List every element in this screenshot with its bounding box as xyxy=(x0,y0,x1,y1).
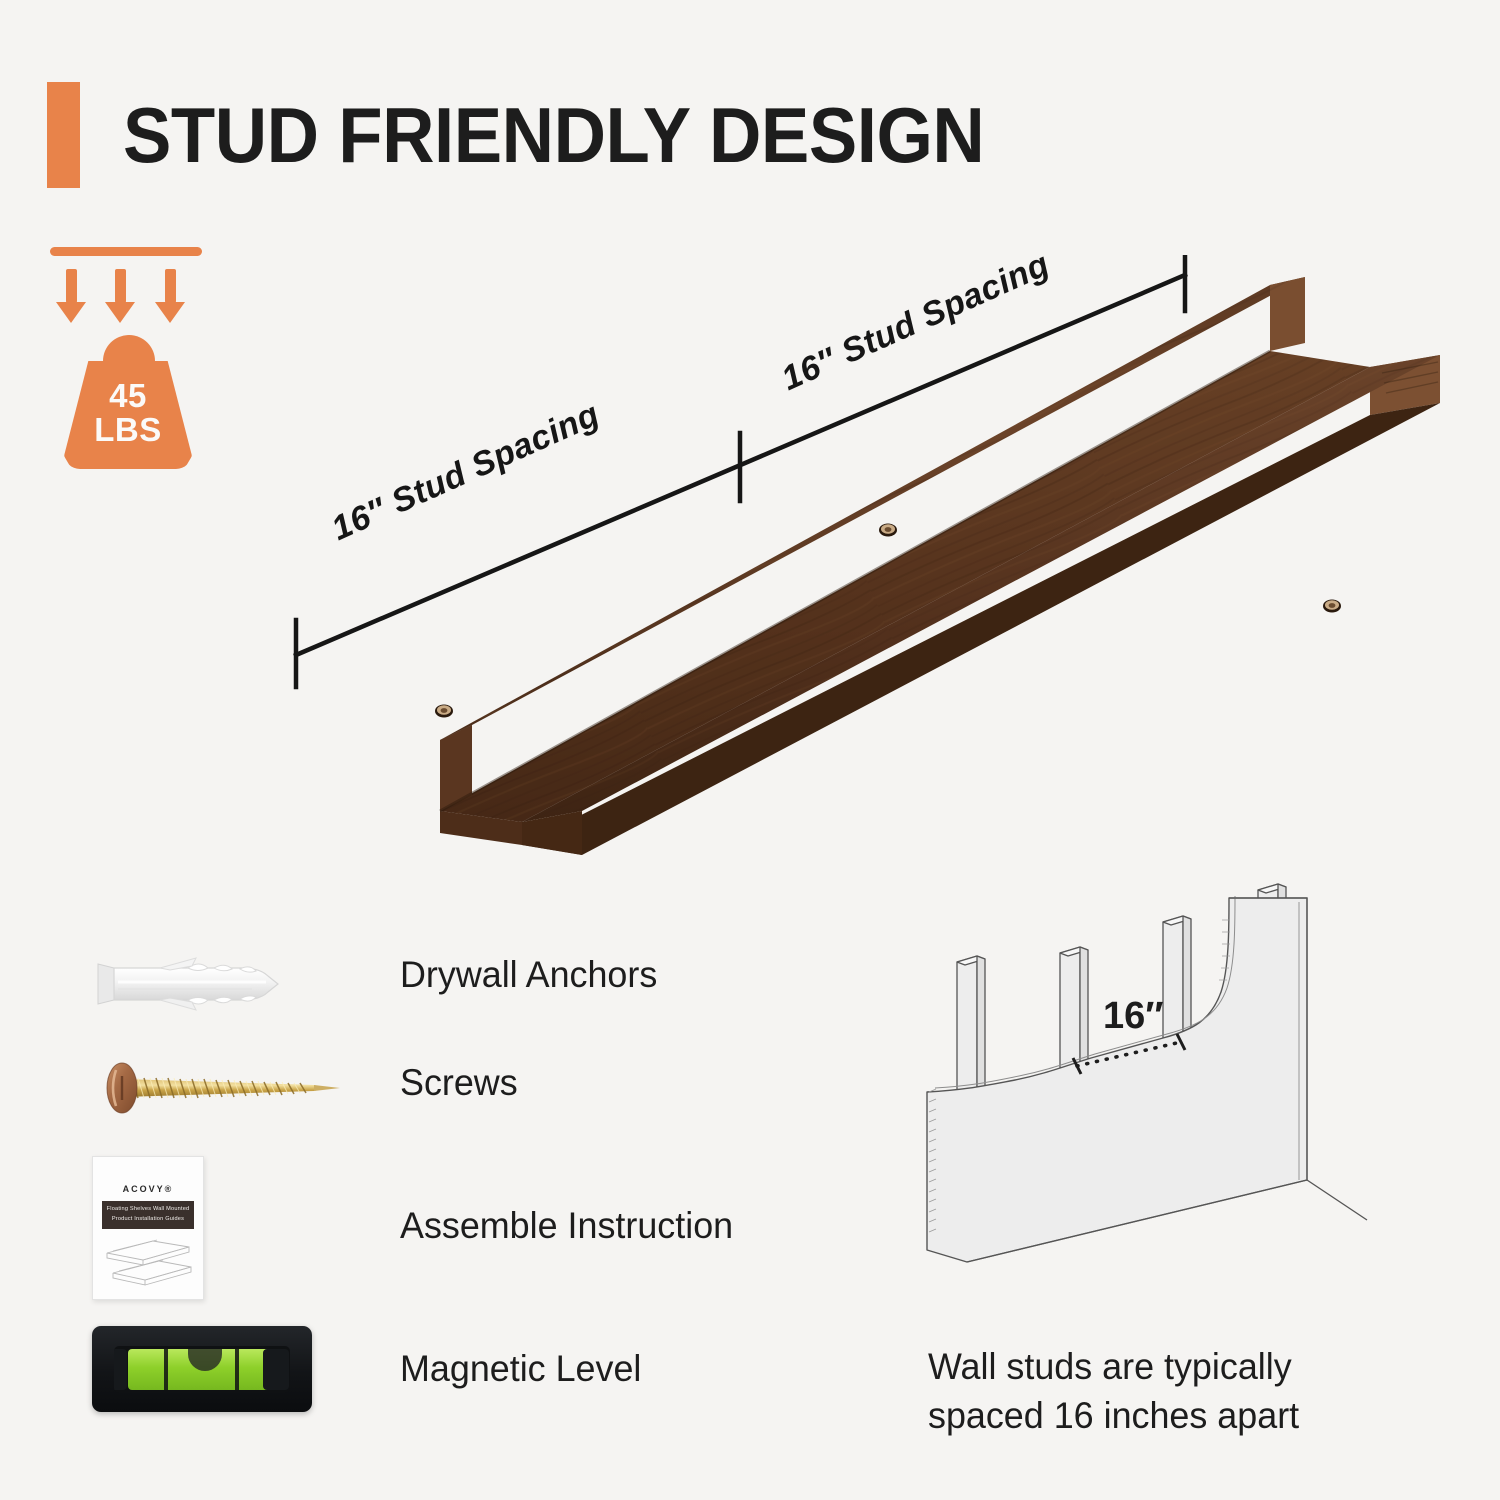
page-title: STUD FRIENDLY DESIGN xyxy=(123,96,984,174)
screw-icon xyxy=(92,1058,344,1118)
booklet-subtitle: Floating Shelves Wall Mounted Product In… xyxy=(102,1201,194,1229)
booklet-subtitle-line2: Product Installation Guides xyxy=(102,1215,194,1225)
stud-caption-line1: Wall studs are typically xyxy=(928,1343,1384,1392)
drywall-anchor-icon xyxy=(92,952,288,1016)
stud-diagram-caption: Wall studs are typically spaced 16 inche… xyxy=(928,1343,1384,1441)
load-arrow-icon xyxy=(105,269,135,323)
accessory-label-assemble-instruction: Assemble Instruction xyxy=(400,1205,733,1247)
instruction-booklet-icon: ACOVY® Floating Shelves Wall Mounted Pro… xyxy=(92,1156,202,1298)
title-accent-bar xyxy=(47,82,80,188)
accessory-label-magnetic-level: Magnetic Level xyxy=(400,1348,641,1390)
magnetic-level-icon xyxy=(92,1326,312,1412)
accessory-label-drywall-anchors: Drywall Anchors xyxy=(400,954,657,996)
booklet-brand: ACOVY® xyxy=(93,1184,203,1194)
stud-caption-line2: spaced 16 inches apart xyxy=(928,1392,1384,1441)
booklet-shelf-drawing xyxy=(101,1235,195,1291)
accessory-label-screws: Screws xyxy=(400,1062,518,1104)
shelf-product-photo: 16″ Stud Spacing 16″ Stud Spacing xyxy=(150,255,1480,865)
load-arrow-icon xyxy=(56,269,86,323)
infographic-canvas: STUD FRIENDLY DESIGN 45 LBS xyxy=(0,0,1500,1500)
booklet-subtitle-line1: Floating Shelves Wall Mounted xyxy=(102,1205,194,1215)
stud-spacing-measurement: 16″ xyxy=(1103,995,1163,1037)
page-title-block: STUD FRIENDLY DESIGN xyxy=(47,82,1049,188)
wall-stud-diagram: 16″ xyxy=(905,880,1375,1310)
